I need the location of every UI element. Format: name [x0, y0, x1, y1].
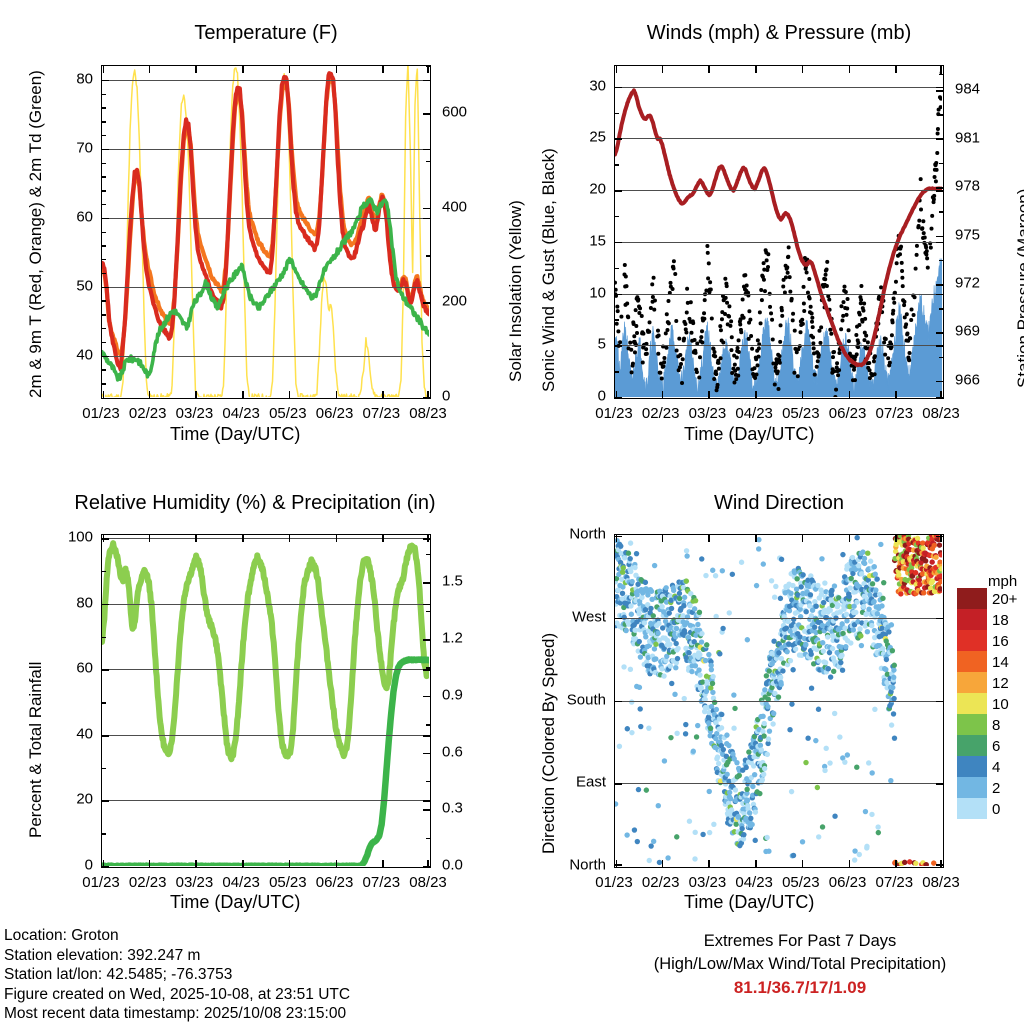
axis-tick: [936, 236, 943, 238]
y2-tick-label: 1.5: [442, 573, 463, 590]
y-tick-label: 0: [37, 857, 93, 874]
axis-tick: [936, 242, 943, 244]
axis-tick: [289, 66, 291, 73]
gridline: [615, 783, 943, 784]
y2-tick-label: 400: [442, 198, 467, 215]
axis-tick: [939, 211, 943, 212]
x-tick-label: 04/23: [735, 874, 773, 891]
axis-tick: [289, 535, 291, 542]
axis-tick: [708, 535, 710, 542]
winds-plot-frame: [614, 65, 944, 399]
axis-tick: [755, 66, 757, 73]
axis-tick: [423, 582, 430, 584]
axis-tick: [426, 255, 430, 256]
axis-tick: [102, 259, 106, 260]
axis-tick: [936, 139, 943, 141]
humidity-plot-area: [102, 535, 429, 866]
axis-tick: [423, 302, 430, 304]
gridline: [615, 242, 943, 243]
axis-tick: [615, 371, 619, 372]
axis-tick: [615, 701, 622, 703]
axis-tick: [615, 242, 622, 244]
x-tick-label: 06/23: [316, 874, 354, 891]
colorbar-swatch: [957, 798, 987, 819]
axis-tick: [149, 66, 151, 73]
sonic-wind-area: [615, 259, 942, 397]
axis-tick: [102, 273, 106, 274]
y-tick-label: 50: [37, 277, 93, 294]
x-tick-label: 05/23: [782, 405, 820, 422]
axis-tick: [939, 163, 943, 164]
x-tick-label: 06/23: [316, 405, 354, 422]
gridline: [102, 669, 430, 670]
y-tick-label: West: [540, 608, 606, 625]
data-timestamp: Most recent data timestamp: 2025/10/08 2…: [4, 1004, 350, 1024]
axis-tick: [423, 696, 430, 698]
axis-tick: [102, 735, 109, 737]
colorbar-tick-label: 16: [992, 633, 1009, 650]
extremes-block: Extremes For Past 7 Days (High/Low/Max W…: [580, 930, 1020, 999]
y-tick-label: 25: [550, 129, 606, 146]
axis-tick: [939, 308, 943, 309]
x-tick-label: 01/23: [595, 405, 633, 422]
axis-tick: [708, 860, 710, 867]
axis-tick: [289, 860, 291, 867]
axis-tick: [102, 80, 109, 82]
axis-tick: [615, 268, 619, 269]
gridline: [615, 701, 943, 702]
x-tick-label: 02/23: [129, 874, 167, 891]
axis-tick: [615, 345, 622, 347]
gridline: [102, 218, 430, 219]
axis-tick: [895, 66, 897, 73]
x-tick-label: 08/23: [922, 405, 960, 422]
x-tick-label: 05/23: [269, 405, 307, 422]
colorbar-swatch: [957, 714, 987, 735]
axis-tick: [102, 328, 106, 329]
axis-tick: [755, 391, 757, 398]
axis-tick: [936, 618, 943, 620]
axis-tick: [426, 554, 430, 555]
axis-tick: [102, 94, 106, 95]
axis-tick: [102, 314, 106, 315]
axis-tick: [336, 391, 338, 398]
colorbar-tick-label: 2: [992, 780, 1000, 797]
x-tick-label: 07/23: [876, 874, 914, 891]
colorbar-tick-label: 0: [992, 801, 1000, 818]
y-tick-label: 60: [37, 208, 93, 225]
x-tick-label: 02/23: [129, 405, 167, 422]
y-tick-label: 10: [550, 284, 606, 301]
colorbar-tick-label: 12: [992, 675, 1009, 692]
axis-tick: [423, 80, 430, 82]
x-tick-label: 08/23: [922, 874, 960, 891]
colorbar-tick-label: 20+: [992, 591, 1017, 608]
x-tick-label: 03/23: [689, 405, 727, 422]
axis-tick: [242, 535, 244, 542]
axis-tick: [426, 611, 430, 612]
extremes-subheading: (High/Low/Max Wind/Total Precipitation): [580, 953, 1020, 976]
y2-tick-label: 969: [955, 323, 980, 340]
axis-tick: [242, 391, 244, 398]
y2-tick-label: 0.9: [442, 686, 463, 703]
axis-tick: [802, 391, 804, 398]
axis-tick: [102, 768, 106, 769]
gridline: [102, 80, 430, 81]
axis-tick: [103, 535, 105, 542]
axis-tick: [802, 66, 804, 73]
station-location: Location: Groton: [4, 926, 350, 946]
y2-tick-label: 0.6: [442, 743, 463, 760]
gridline: [615, 294, 943, 295]
axis-tick: [102, 121, 106, 122]
axis-tick: [102, 356, 109, 358]
solar-insolation-axis-label: Solar Insolation (Yellow): [506, 200, 526, 382]
axis-tick: [615, 294, 622, 296]
axis-tick: [423, 218, 430, 220]
axis-tick: [615, 783, 622, 785]
temperature-x-axis-label: Time (Day/UTC): [170, 424, 300, 445]
x-tick-label: 07/23: [363, 405, 401, 422]
figure-created: Figure created on Wed, 2025-10-08, at 23…: [4, 985, 350, 1005]
axis-tick: [149, 535, 151, 542]
axis-tick: [102, 369, 106, 370]
axis-tick: [102, 702, 106, 703]
x-tick-label: 01/23: [82, 874, 120, 891]
axis-tick: [102, 218, 109, 220]
axis-tick: [849, 860, 851, 867]
axis-tick: [423, 639, 430, 641]
axis-tick: [102, 342, 106, 343]
y2-tick-label: 975: [955, 226, 980, 243]
axis-tick: [382, 535, 384, 542]
station-info: Location: Groton Station elevation: 392.…: [4, 926, 350, 1024]
axis-tick: [336, 535, 338, 542]
axis-tick: [936, 187, 943, 189]
axis-tick: [336, 66, 338, 73]
axis-tick: [382, 391, 384, 398]
pressure-axis-label: Station Pressure (Maroon): [1014, 189, 1024, 388]
y2-tick-label: 972: [955, 274, 980, 291]
x-tick-label: 03/23: [176, 405, 214, 422]
colorbar-swatch: [957, 588, 987, 609]
colorbar-tick-label: 10: [992, 696, 1009, 713]
axis-tick: [426, 781, 430, 782]
axis-tick: [936, 783, 943, 785]
axis-tick: [895, 860, 897, 867]
axis-tick: [423, 753, 430, 755]
axis-tick: [615, 87, 622, 89]
axis-tick: [940, 535, 942, 542]
axis-tick: [940, 66, 942, 73]
axis-tick: [615, 164, 619, 165]
axis-tick: [242, 66, 244, 73]
station-elevation: Station elevation: 392.247 m: [4, 946, 350, 966]
humidity-title: Relative Humidity (%) & Precipitation (i…: [20, 492, 490, 515]
axis-tick: [662, 66, 664, 73]
colorbar-swatch: [957, 630, 987, 651]
x-tick-label: 06/23: [829, 874, 867, 891]
axis-tick: [895, 535, 897, 542]
axis-tick: [423, 604, 430, 606]
axis-tick: [940, 391, 942, 398]
axis-tick: [936, 90, 943, 92]
axis-tick: [427, 66, 429, 73]
y-tick-label: East: [540, 774, 606, 791]
axis-tick: [102, 800, 109, 802]
gridline: [102, 356, 430, 357]
axis-tick: [423, 735, 430, 737]
gridline: [615, 618, 943, 619]
axis-tick: [708, 66, 710, 73]
y2-tick-label: 981: [955, 129, 980, 146]
colorbar-swatch: [957, 672, 987, 693]
gridline: [615, 345, 943, 346]
y2-tick-label: 966: [955, 371, 980, 388]
y2-tick-label: 600: [442, 104, 467, 121]
data-series-line: [102, 659, 429, 866]
y-tick-label: 0: [550, 388, 606, 405]
gridline: [615, 87, 943, 88]
x-tick-label: 02/23: [642, 405, 680, 422]
y-tick-label: 20: [37, 791, 93, 808]
axis-tick: [939, 114, 943, 115]
axis-tick: [423, 356, 430, 358]
colorbar-unit-label: mph: [988, 573, 1017, 590]
x-tick-label: 02/23: [642, 874, 680, 891]
colorbar-tick-label: 4: [992, 759, 1000, 776]
y-tick-label: 40: [37, 725, 93, 742]
axis-tick: [102, 571, 106, 572]
axis-tick: [149, 860, 151, 867]
colorbar-swatch: [957, 735, 987, 756]
y2-tick-label: 984: [955, 81, 980, 98]
axis-tick: [382, 66, 384, 73]
data-series-line: [102, 543, 429, 759]
axis-tick: [102, 135, 106, 136]
axis-tick: [102, 232, 106, 233]
axis-tick: [616, 66, 618, 73]
axis-tick: [802, 860, 804, 867]
axis-tick: [426, 724, 430, 725]
axis-tick: [755, 860, 757, 867]
axis-tick: [102, 245, 106, 246]
wind-direction-title: Wind Direction: [614, 492, 944, 515]
y2-tick-label: 200: [442, 293, 467, 310]
axis-tick: [427, 860, 429, 867]
axis-tick: [195, 535, 197, 542]
axis-tick: [849, 66, 851, 73]
axis-tick: [423, 809, 430, 811]
axis-tick: [423, 113, 430, 115]
wind-direction-x-axis-label: Time (Day/UTC): [684, 892, 814, 913]
axis-tick: [936, 345, 943, 347]
axis-tick: [755, 535, 757, 542]
humidity-y-axis-label: Percent & Total Rainfall: [26, 662, 46, 838]
axis-tick: [102, 383, 106, 384]
y2-tick-label: 0.3: [442, 800, 463, 817]
axis-tick: [102, 204, 106, 205]
axis-tick: [616, 535, 618, 542]
x-tick-label: 07/23: [363, 874, 401, 891]
gridline: [615, 138, 943, 139]
winds-x-axis-label: Time (Day/UTC): [684, 424, 814, 445]
x-tick-label: 05/23: [782, 874, 820, 891]
x-tick-label: 05/23: [269, 874, 307, 891]
axis-tick: [615, 190, 622, 192]
axis-tick: [102, 669, 109, 671]
axis-tick: [102, 149, 109, 151]
wind-direction-y-axis-label: Direction (Colored By Speed): [539, 633, 559, 854]
axis-tick: [615, 618, 622, 620]
gridline: [102, 735, 430, 736]
axis-tick: [936, 190, 943, 192]
axis-tick: [939, 260, 943, 261]
y-tick-label: North: [540, 526, 606, 543]
gridline: [102, 538, 430, 539]
y-tick-label: 60: [37, 660, 93, 677]
axis-tick: [895, 391, 897, 398]
axis-tick: [939, 357, 943, 358]
temperature-plot-area: [102, 66, 429, 397]
humidity-x-axis-label: Time (Day/UTC): [170, 892, 300, 913]
axis-tick: [939, 74, 943, 75]
y-tick-label: 100: [37, 529, 93, 546]
axis-tick: [936, 294, 943, 296]
axis-tick: [242, 860, 244, 867]
extremes-value: 81.1/36.7/17/1.09: [580, 976, 1020, 999]
axis-tick: [336, 860, 338, 867]
axis-tick: [616, 391, 618, 398]
axis-tick: [102, 300, 106, 301]
x-tick-label: 01/23: [595, 874, 633, 891]
data-series-line: [102, 66, 429, 397]
colorbar-tick-label: 18: [992, 612, 1009, 629]
y-tick-label: 15: [550, 232, 606, 249]
gust-scatter: [615, 70, 942, 397]
axis-tick: [616, 860, 618, 867]
axis-tick: [102, 287, 109, 289]
axis-tick: [149, 391, 151, 398]
y2-tick-label: 978: [955, 178, 980, 195]
colorbar-tick-label: 14: [992, 654, 1009, 671]
y-tick-label: 80: [37, 70, 93, 87]
axis-tick: [102, 163, 106, 164]
x-tick-label: 08/23: [409, 874, 447, 891]
y2-tick-label: 0.0: [442, 857, 463, 874]
humidity-plot-frame: [101, 534, 431, 868]
axis-tick: [936, 332, 943, 334]
gridline: [102, 604, 430, 605]
winds-title: Winds (mph) & Pressure (mb): [614, 22, 944, 45]
axis-tick: [426, 838, 430, 839]
x-tick-label: 04/23: [735, 405, 773, 422]
axis-tick: [102, 604, 109, 606]
x-tick-label: 04/23: [222, 405, 260, 422]
gridline: [102, 287, 430, 288]
y-tick-label: 70: [37, 139, 93, 156]
axis-tick: [849, 391, 851, 398]
axis-tick: [936, 701, 943, 703]
temperature-title: Temperature (F): [101, 22, 431, 45]
axis-tick: [423, 669, 430, 671]
axis-tick: [102, 107, 106, 108]
temperature-plot-frame: [101, 65, 431, 399]
axis-tick: [195, 66, 197, 73]
y-tick-label: 20: [550, 181, 606, 198]
y2-tick-label: 1.2: [442, 630, 463, 647]
axis-tick: [662, 391, 664, 398]
axis-tick: [103, 391, 105, 398]
gridline: [102, 149, 430, 150]
axis-tick: [289, 391, 291, 398]
wind-direction-plot-frame: [614, 534, 944, 868]
axis-tick: [936, 284, 943, 286]
colorbar-swatch: [957, 756, 987, 777]
gridline: [102, 800, 430, 801]
x-tick-label: 01/23: [82, 405, 120, 422]
axis-tick: [615, 113, 619, 114]
x-tick-label: 07/23: [876, 405, 914, 422]
axis-tick: [662, 860, 664, 867]
axis-tick: [708, 391, 710, 398]
colorbar-tick-label: 8: [992, 717, 1000, 734]
y2-tick-label: 0: [442, 388, 450, 405]
station-latlon: Station lat/lon: 42.5485; -76.3753: [4, 965, 350, 985]
x-tick-label: 03/23: [689, 874, 727, 891]
axis-tick: [102, 176, 106, 177]
axis-tick: [426, 350, 430, 351]
y-tick-label: 80: [37, 594, 93, 611]
axis-tick: [615, 138, 622, 140]
axis-tick: [423, 800, 430, 802]
axis-tick: [426, 667, 430, 668]
axis-tick: [195, 391, 197, 398]
x-tick-label: 06/23: [829, 405, 867, 422]
colorbar-swatch: [957, 693, 987, 714]
axis-tick: [427, 391, 429, 398]
axis-tick: [102, 190, 106, 191]
wind-speed-colorbar: [957, 588, 987, 819]
winds-plot-area: [615, 66, 942, 397]
axis-tick: [426, 161, 430, 162]
axis-tick: [103, 66, 105, 73]
colorbar-tick-label: 6: [992, 738, 1000, 755]
data-series-line: [102, 73, 429, 369]
x-tick-label: 08/23: [409, 405, 447, 422]
y-tick-label: 40: [37, 346, 93, 363]
colorbar-swatch: [957, 609, 987, 630]
axis-tick: [662, 535, 664, 542]
axis-tick: [936, 381, 943, 383]
y-tick-label: 30: [550, 77, 606, 94]
axis-tick: [940, 860, 942, 867]
gridline: [615, 190, 943, 191]
axis-tick: [615, 216, 619, 217]
weather-dashboard: Temperature (F) 2m & 9m T (Red, Orange) …: [0, 0, 1024, 1024]
x-tick-label: 03/23: [176, 874, 214, 891]
axis-tick: [936, 87, 943, 89]
axis-tick: [423, 208, 430, 210]
x-tick-label: 04/23: [222, 874, 260, 891]
axis-tick: [102, 637, 106, 638]
colorbar-swatch: [957, 651, 987, 672]
axis-tick: [102, 833, 106, 834]
axis-tick: [382, 860, 384, 867]
axis-tick: [103, 860, 105, 867]
axis-tick: [615, 319, 619, 320]
axis-tick: [195, 860, 197, 867]
